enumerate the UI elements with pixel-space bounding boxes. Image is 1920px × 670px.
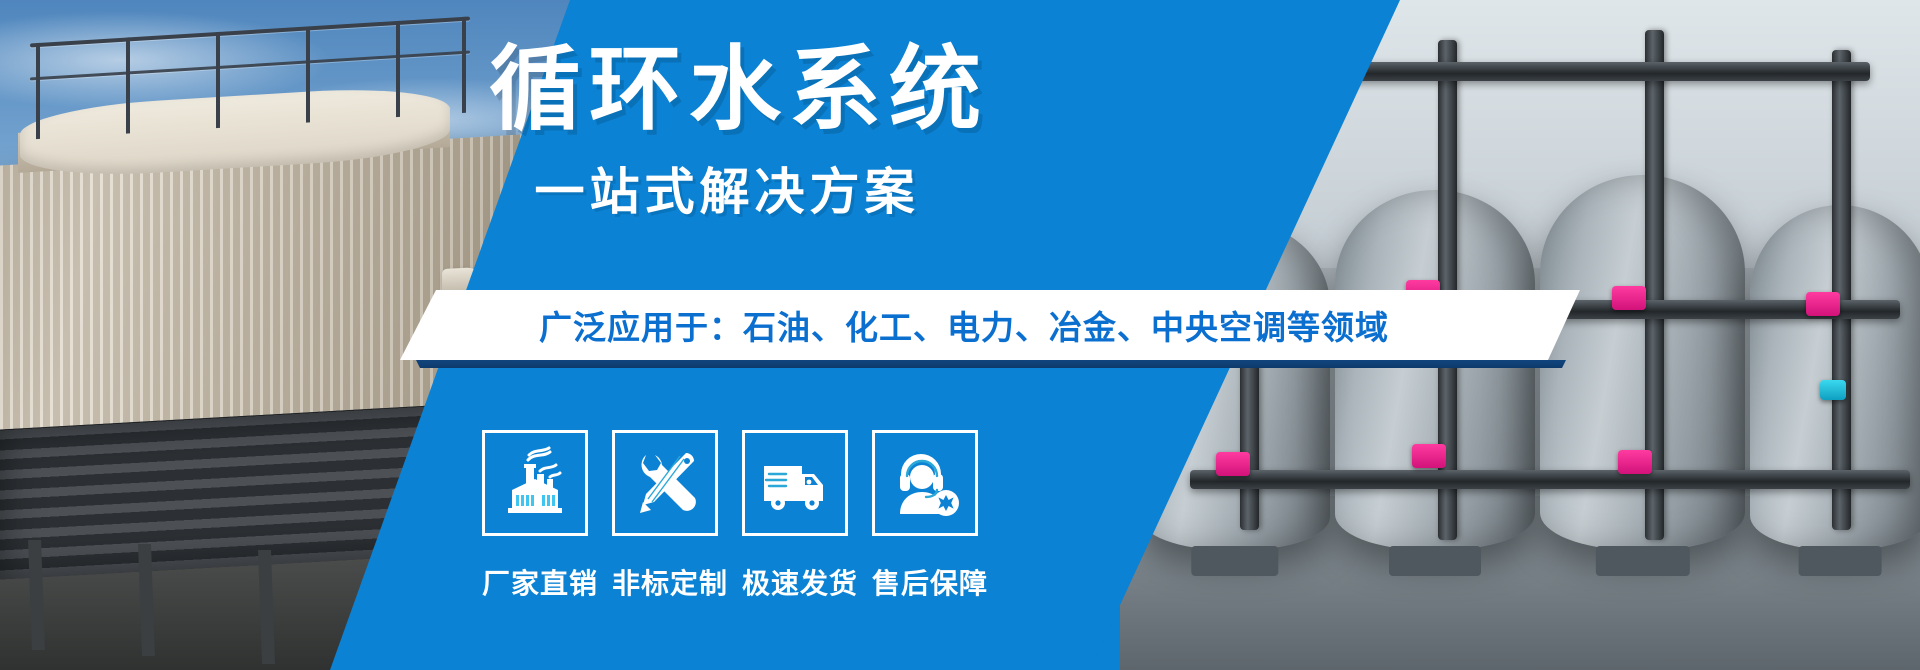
feature-icon-box	[742, 430, 848, 536]
factory-icon	[498, 446, 572, 520]
feature-label: 极速发货	[742, 562, 850, 602]
feature-label: 非标定制	[612, 562, 720, 602]
delivery-truck-icon	[758, 446, 832, 520]
feature-item-factory[interactable]: 厂家直销	[482, 430, 590, 602]
feature-item-aftersales[interactable]: 售后保障	[872, 430, 980, 602]
application-strip-underline	[416, 360, 1566, 368]
feature-item-customization[interactable]: 非标定制	[612, 430, 720, 602]
feature-icon-box	[872, 430, 978, 536]
feature-list: 厂家直销	[482, 430, 982, 630]
feature-icon-box	[612, 430, 718, 536]
application-strip: 广泛应用于：石油、化工、电力、冶金、中央空调等领域	[400, 290, 1580, 360]
feature-label: 厂家直销	[482, 562, 590, 602]
banner-title: 循环水系统	[0, 42, 1478, 139]
feature-item-shipping[interactable]: 极速发货	[742, 430, 850, 602]
feature-icon-box	[482, 430, 588, 536]
wrench-pencil-icon	[628, 446, 702, 520]
application-text: 广泛应用于：石油、化工、电力、冶金、中央空调等领域	[539, 301, 1389, 349]
promo-banner: 循环水系统 一站式解决方案 广泛应用于：石油、化工、电力、冶金、中央空调等领域	[0, 0, 1920, 670]
banner-subtitle: 一站式解决方案	[0, 152, 1454, 224]
headset-support-icon	[888, 446, 962, 520]
banner-content: 循环水系统 一站式解决方案 广泛应用于：石油、化工、电力、冶金、中央空调等领域	[0, 0, 1920, 670]
feature-label: 售后保障	[872, 562, 980, 602]
